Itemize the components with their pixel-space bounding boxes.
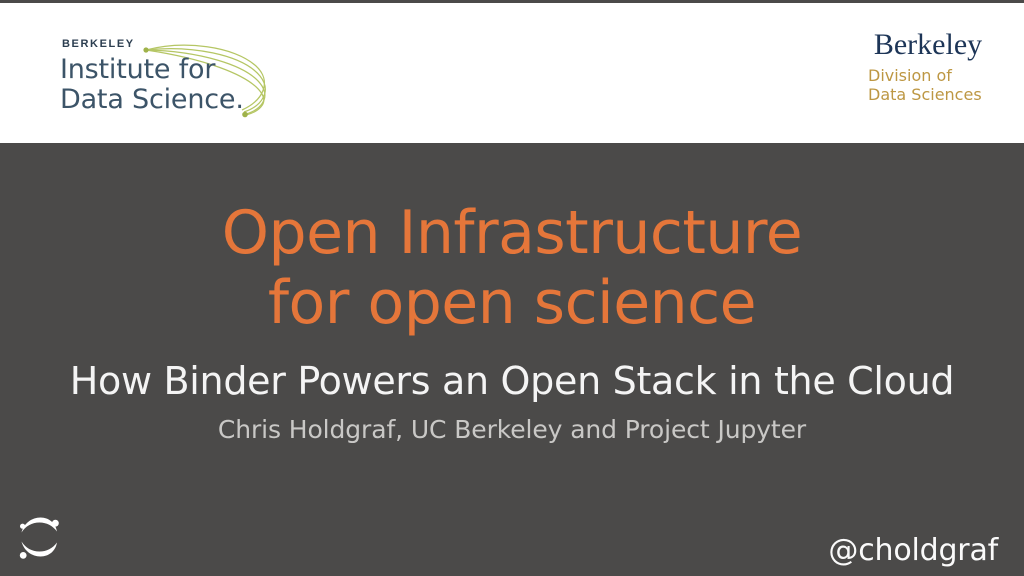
jupyter-dot-upper-right <box>52 520 59 527</box>
bids-eyebrow-text: BERKELEY <box>62 38 135 50</box>
dds-subtitle-line-2: Data Sciences <box>868 85 990 105</box>
jupyter-dot-lower-left <box>20 552 27 559</box>
dds-subtitle: Division of Data Sciences <box>866 66 990 105</box>
title-line-1: Open Infrastructure <box>0 199 1024 269</box>
bids-name-line-2: Data Science. <box>60 84 244 115</box>
author-handle: @choldgraf <box>828 533 998 568</box>
presentation-slide: BERKELEY Institute for Data Science. Ber… <box>0 0 1024 576</box>
berkeley-division-of-data-sciences-logo: Berkeley Division of Data Sciences <box>866 29 990 105</box>
slide-body: Open Infrastructure for open science How… <box>0 143 1024 576</box>
title-line-2: for open science <box>0 269 1024 339</box>
dds-subtitle-line-1: Division of <box>868 66 990 86</box>
slide-title: Open Infrastructure for open science <box>0 199 1024 338</box>
jupyter-logo-icon <box>18 512 60 562</box>
slide-subtitle: How Binder Powers an Open Stack in the C… <box>0 359 1024 403</box>
header-logo-band: BERKELEY Institute for Data Science. Ber… <box>0 3 1024 143</box>
slide-byline: Chris Holdgraf, UC Berkeley and Project … <box>0 415 1024 444</box>
berkeley-institute-for-data-science-logo: BERKELEY Institute for Data Science. <box>58 36 278 118</box>
dds-wordmark: Berkeley <box>866 29 990 61</box>
bids-swoosh-origin-dot <box>143 47 148 52</box>
bids-name-line-1: Institute for <box>60 54 215 85</box>
jupyter-dot-upper-left <box>20 524 25 529</box>
